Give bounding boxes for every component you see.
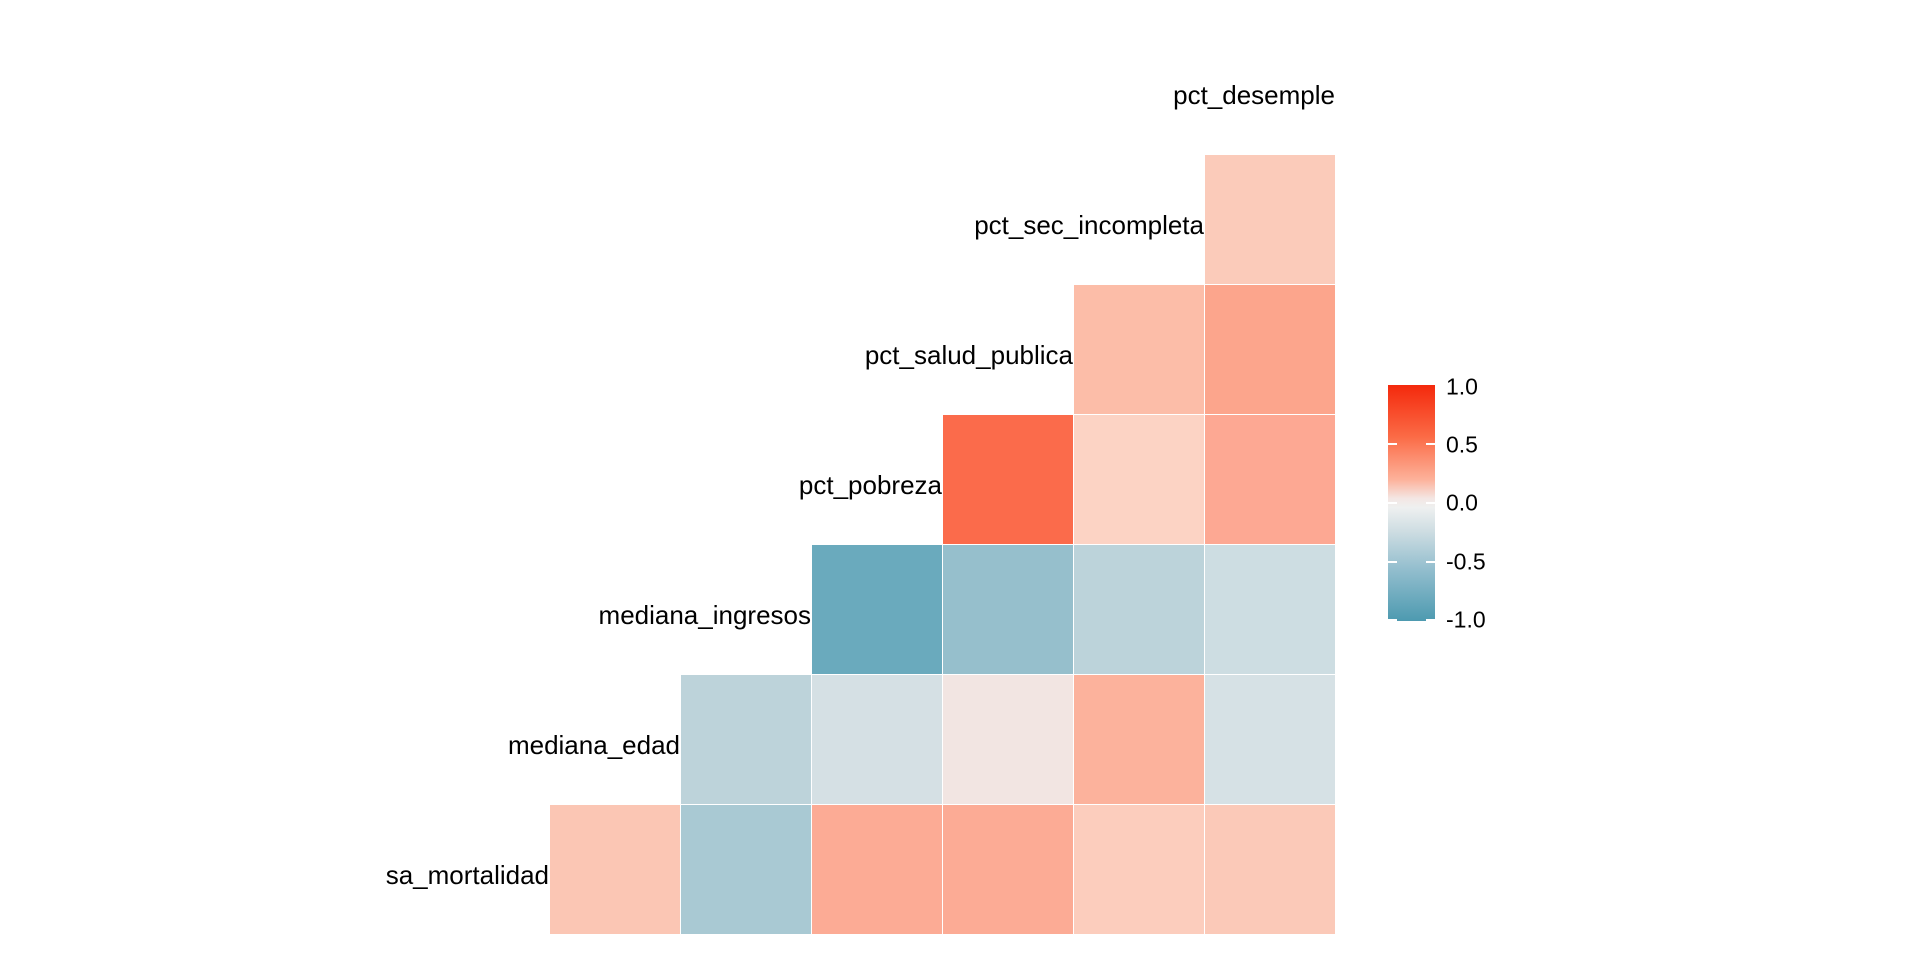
heatmap-cell-mediana_ingresos-pct_sec_incompleta[interactable] xyxy=(1074,545,1204,674)
heatmap-cell-mediana_ingresos-pct_desemple[interactable] xyxy=(1205,545,1335,674)
legend-label-0.5: 0.5 xyxy=(1446,434,1478,457)
heatmap-cell-sa_mortalidad-sa_mortalidad[interactable] xyxy=(550,805,680,934)
heatmap-cell-pct_pobreza-pct_salud_publica[interactable] xyxy=(943,415,1073,544)
correlogram-plot: pct_desemple pct_sec_incompleta pct_salu… xyxy=(0,0,1920,960)
heatmap-cell-mediana_edad-pct_pobreza[interactable] xyxy=(812,675,942,804)
heatmap-cell-pct_pobreza-pct_desemple[interactable] xyxy=(1205,415,1335,544)
heatmap-cell-mediana_ingresos-pct_pobreza[interactable] xyxy=(812,545,942,674)
heatmap-cell-mediana_ingresos-pct_salud_publica[interactable] xyxy=(943,545,1073,674)
legend-label-1.0: 1.0 xyxy=(1446,376,1478,399)
color-legend: 1.0 0.5 0.0 -0.5 -1.0 xyxy=(1388,378,1558,628)
diagonal-label-mediana_ingresos: mediana_ingresos xyxy=(281,602,811,628)
heatmap-panel: pct_desemple pct_sec_incompleta pct_salu… xyxy=(0,0,1338,960)
heatmap-cell-pct_salud_publica-pct_desemple[interactable] xyxy=(1205,285,1335,414)
heatmap-cell-sa_mortalidad-pct_pobreza[interactable] xyxy=(812,805,942,934)
heatmap-cell-sa_mortalidad-pct_sec_incompleta[interactable] xyxy=(1074,805,1204,934)
heatmap-cell-sa_mortalidad-pct_salud_publica[interactable] xyxy=(943,805,1073,934)
diagonal-label-sa_mortalidad: sa_mortalidad xyxy=(19,862,549,888)
legend-tick-mark-0.5 xyxy=(1388,443,1397,445)
diagonal-label-pct_desemple: pct_desemple xyxy=(805,82,1335,108)
heatmap-cell-pct_salud_publica-pct_sec_incompleta[interactable] xyxy=(1074,285,1204,414)
heatmap-cell-pct_pobreza-pct_sec_incompleta[interactable] xyxy=(1074,415,1204,544)
heatmap-cell-mediana_edad-pct_desemple[interactable] xyxy=(1205,675,1335,804)
heatmap-cell-mediana_edad-pct_salud_publica[interactable] xyxy=(943,675,1073,804)
legend-tick-mark-neg1.0 xyxy=(1388,619,1397,621)
heatmap-cell-mediana_edad-mediana_ingresos[interactable] xyxy=(681,675,811,804)
legend-tick-mark-0.5-right xyxy=(1426,443,1435,445)
legend-tick-mark-neg0.5-right xyxy=(1426,561,1435,563)
heatmap-cell-pct_sec_incompleta-pct_desemple[interactable] xyxy=(1205,155,1335,284)
legend-label-neg1.0: -1.0 xyxy=(1446,609,1486,632)
diagonal-label-pct_salud_publica: pct_salud_publica xyxy=(543,342,1073,368)
heatmap-cell-sa_mortalidad-pct_desemple[interactable] xyxy=(1205,805,1335,934)
legend-tick-mark-neg0.5 xyxy=(1388,561,1397,563)
diagonal-label-mediana_edad: mediana_edad xyxy=(150,732,680,758)
legend-tick-mark-0.0-right xyxy=(1426,502,1435,504)
heatmap-cell-sa_mortalidad-mediana_ingresos[interactable] xyxy=(681,805,811,934)
legend-label-neg0.5: -0.5 xyxy=(1446,551,1486,574)
heatmap-cell-mediana_edad-pct_sec_incompleta[interactable] xyxy=(1074,675,1204,804)
legend-tick-mark-neg1.0-right xyxy=(1426,619,1435,621)
diagonal-label-pct_pobreza: pct_pobreza xyxy=(412,472,942,498)
legend-tick-mark-0.0 xyxy=(1388,502,1397,504)
legend-label-0.0: 0.0 xyxy=(1446,492,1478,515)
diagonal-label-pct_sec_incompleta: pct_sec_incompleta xyxy=(674,212,1204,238)
